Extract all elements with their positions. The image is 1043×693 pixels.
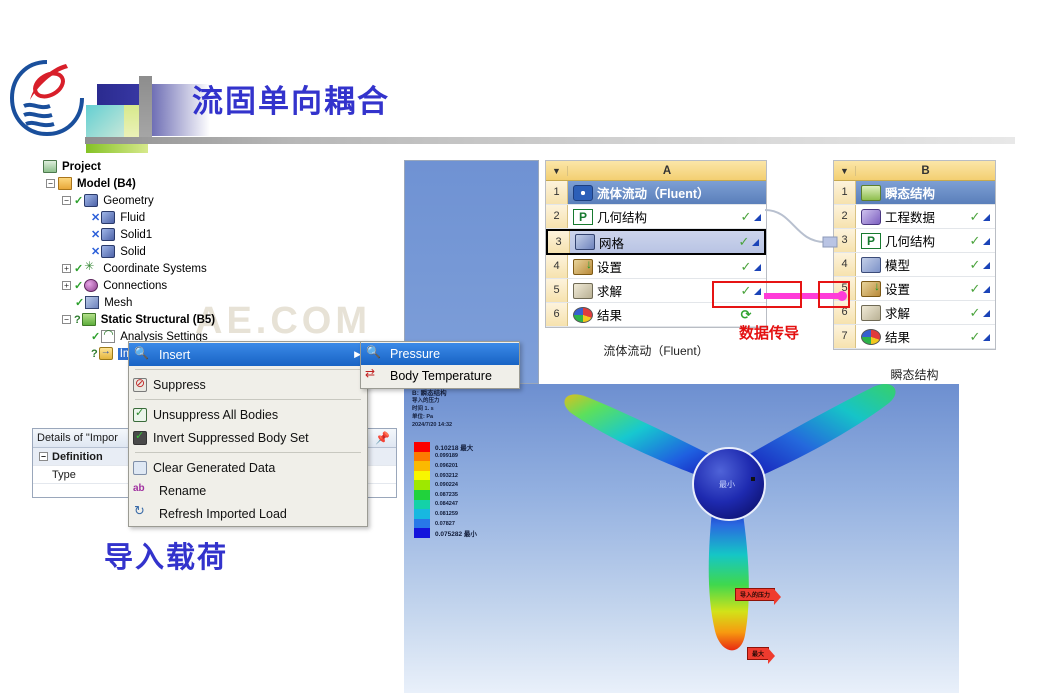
cell-update-triangle [983,258,995,272]
menu-separator [135,369,361,370]
cell-label: 几何结构 [885,231,967,250]
legend-entry: 0.081259 [414,509,477,519]
legend-value: 0.087235 [435,492,458,498]
collapse-icon[interactable]: − [39,452,48,461]
expand-icon[interactable]: + [62,264,71,273]
model-cell-icon [861,257,881,273]
cell-number: 5 [546,279,568,302]
tree-node-label: Solid [120,246,146,258]
mesh-cell-icon [575,234,595,250]
legend-value: 0.075282 最小 [435,528,477,538]
submenu-item-pressure[interactable]: Pressure [361,343,519,365]
viewport-info-line: 导入的压力 [412,398,440,406]
organization-logo [8,58,86,140]
legend-value: 0.07827 [435,521,455,527]
menu-separator [135,399,361,400]
system-a-header: ▼ A [546,161,766,181]
submenu-item-label: Pressure [390,347,440,361]
tree-node-mesh[interactable]: ✓Mesh [30,294,300,311]
menu-item-label: Insert [159,348,190,362]
menu-item-suppress[interactable]: Suppress [129,373,367,396]
cell-status-icon: ✓ [967,305,983,321]
results-cell-icon [861,329,881,345]
setup-cell-icon [573,259,593,275]
cell-status-icon: ✓ [967,233,983,249]
viewport-info-line: 时间 1. s [412,406,434,414]
check-icon: ✓ [91,330,100,343]
unsuppress-icon [133,408,147,422]
analysis-settings-icon [101,330,115,343]
page-title: 流固单向耦合 [192,76,390,121]
cell-number: 7 [834,325,856,348]
legend-value: 0.093212 [435,473,458,479]
expand-icon[interactable]: + [62,281,71,290]
tree-node-label: Mesh [104,297,132,309]
menu-item-rename[interactable]: Rename [129,479,367,502]
cell-number: 1 [546,181,568,204]
tree-node-label: Model (B4) [77,178,136,190]
tree-node-model-b4[interactable]: −Model (B4) [30,175,300,192]
menu-item-refresh-imported-load[interactable]: Refresh Imported Load [129,502,367,525]
legend-entry: 0.096201 [414,461,477,471]
legend-color-swatch [414,528,430,538]
check-icon: ✓ [74,194,83,207]
tree-node-fluid[interactable]: ✕Fluid [30,209,300,226]
imported-load-icon [99,347,113,360]
cell-status-icon: ✓ [967,257,983,273]
body-icon [101,245,115,258]
question-icon: ? [91,348,98,360]
cell-number: 3 [548,231,570,253]
check-icon: ✓ [75,296,84,309]
data-link-mesh-geometry [765,200,845,260]
cell-number: 4 [546,255,568,278]
menu-separator [135,452,361,453]
model-tree: Project−Model (B4)−✓Geometry✕Fluid✕Solid… [30,158,300,362]
legend-color-swatch [414,509,430,519]
submenu-item-body-temperature[interactable]: Body Temperature [361,365,519,387]
contour-legend: 0.10218 最大0.0991890.0962010.0932120.0902… [414,442,477,538]
geometry-icon [84,194,98,207]
tree-node-static-structural-b5[interactable]: −?Static Structural (B5) [30,311,300,328]
tree-node-solid1[interactable]: ✕Solid1 [30,226,300,243]
suppress-icon [133,378,147,392]
legend-color-swatch [414,442,430,452]
cell-label: 设置 [597,257,738,276]
tree-node-label: Project [62,161,101,173]
cell-label: 几何结构 [597,207,738,226]
cell-status-icon: ✓ [967,281,983,297]
legend-value: 0.090224 [435,482,458,488]
details-panel-title: Details of "Impor [37,432,118,444]
legend-color-swatch [414,500,430,510]
transient-structural-icon [861,185,881,201]
legend-entry: 0.07827 [414,519,477,529]
cell-label: 网格 [599,233,736,252]
body-icon [101,211,115,224]
workbench-cell-b7[interactable]: 7结果✓ [834,325,995,349]
cell-label: 流体流动（Fluent） [597,183,738,202]
static-structural-icon [82,313,96,326]
body-icon [101,228,115,241]
cell-update-triangle [983,282,995,296]
legend-color-swatch [414,519,430,529]
cell-update-triangle [983,306,995,320]
legend-color-swatch [414,490,430,500]
workbench-cell-b3[interactable]: 3P几何结构✓ [834,229,995,253]
fluent-icon [573,185,593,201]
system-b-caption: 瞬态结构 [833,366,996,383]
data-transfer-annotation: 数据传导 [739,322,799,343]
collapse-icon[interactable]: − [62,196,71,205]
collapse-icon[interactable]: − [62,315,71,324]
legend-color-swatch [414,452,430,462]
menu-item-label: Invert Suppressed Body Set [153,431,309,445]
cell-status-icon: ✓ [738,209,754,225]
menu-item-label: Suppress [153,378,206,392]
workbench-cell-a2[interactable]: 2P几何结构✓ [546,205,766,229]
pressure-icon [365,346,385,362]
highlight-box-b5 [818,281,850,308]
workbench-cell-b1[interactable]: 1瞬态结构 [834,181,995,205]
geometry-cell-icon: P [861,233,881,249]
menu-item-clear-generated-data[interactable]: Clear Generated Data [129,456,367,479]
legend-entry: 0.087235 [414,490,477,500]
callout-max: 最大 [747,647,769,660]
model-icon [58,177,72,190]
cell-label: 模型 [885,255,967,274]
menu-item-insert[interactable]: Insert▶ [129,343,367,366]
chevron-down-icon[interactable]: ▼ [546,166,568,176]
cell-label: 求解 [885,303,967,322]
viewport-info-line: 2024/7/20 14:32 [412,422,452,430]
tree-node-project[interactable]: Project [30,158,300,175]
invert-icon [133,431,147,445]
system-a-caption: 流体流动（Fluent） [545,342,767,359]
workbench-cell-b6[interactable]: 6求解✓ [834,301,995,325]
submenu-item-label: Body Temperature [390,369,492,383]
legend-value: 0.099189 [435,453,458,459]
cell-label: 结果 [885,327,967,346]
workbench-cell-a3[interactable]: 3网格✓ [546,229,766,255]
system-b-column-label: B [856,165,995,177]
engineering-data-icon [861,209,881,225]
x-icon: ✕ [91,228,100,241]
menu-item-label: Unsuppress All Bodies [153,408,278,422]
check-icon: ✓ [74,262,83,275]
cell-update-triangle [752,235,764,249]
tree-node-connections[interactable]: +✓Connections [30,277,300,294]
pin-icon[interactable]: 📌 [375,431,392,445]
legend-color-swatch [414,461,430,471]
results-viewport[interactable]: B: 瞬态结构导入的压力时间 1. s单位: Pa2024/7/20 14:32… [404,384,959,693]
propeller-model[interactable]: 最小 [529,384,929,679]
results-cell-icon [573,307,593,323]
x-icon: ✕ [91,245,100,258]
refresh-icon [133,506,153,522]
workbench-cell-b5[interactable]: 5设置✓ [834,277,995,301]
tree-node-label: Geometry [103,195,154,207]
legend-color-swatch [414,480,430,490]
workbench-cell-a1[interactable]: 1流体流动（Fluent） [546,181,766,205]
coordinate-systems-icon [84,262,98,275]
legend-entry: 0.10218 最大 [414,442,477,452]
cell-status-icon: ✓ [738,259,754,275]
details-field-label: Type [52,469,76,481]
cell-status-icon: ✓ [967,329,983,345]
header-bar-horizontal [85,137,1015,144]
workbench-cell-a4[interactable]: 4设置✓ [546,255,766,279]
cell-status-icon: ⟳ [738,307,754,323]
cell-number: 2 [546,205,568,228]
system-a-column-label: A [568,165,766,177]
cell-status-icon: ✓ [736,234,752,250]
header-bar-vertical [139,76,152,144]
menu-item-label: Rename [159,484,206,498]
viewport-info-line: 单位: Pa [412,414,433,422]
menu-item-unsuppress-all-bodies[interactable]: Unsuppress All Bodies [129,403,367,426]
insert-icon [133,347,153,363]
legend-value: 0.081259 [435,511,458,517]
solution-cell-icon [861,305,881,321]
system-b-header: ▼ B [834,161,995,181]
legend-entry: 0.093212 [414,471,477,481]
geometry-cell-icon: P [573,209,593,225]
chevron-down-icon[interactable]: ▼ [834,166,856,176]
question-icon: ? [74,314,81,326]
collapse-icon[interactable]: − [46,179,55,188]
cell-label: 设置 [885,279,967,298]
cell-label: 瞬态结构 [885,183,967,202]
menu-item-invert-suppressed-body-set[interactable]: Invert Suppressed Body Set [129,426,367,449]
menu-item-label: Clear Generated Data [153,461,275,475]
cell-update-triangle [754,260,766,274]
cell-update-triangle [983,210,995,224]
legend-entry: 0.090224 [414,480,477,490]
workbench-system-b: ▼ B 1瞬态结构2工程数据✓3P几何结构✓4模型✓5设置✓6求解✓7结果✓ [833,160,996,350]
slide-canvas: 流固单向耦合 AE.COM Project−Model (B4)−✓Geomet… [0,0,1043,693]
header-decor-green [86,143,148,153]
svg-text:最小: 最小 [719,480,735,489]
solution-cell-icon [573,283,593,299]
legend-value: 0.096201 [435,463,458,469]
highlight-box-a5 [712,281,802,308]
insert-submenu[interactable]: PressureBody Temperature [360,341,520,389]
cell-status-icon: ✓ [967,209,983,225]
legend-entry: 0.075282 最小 [414,528,477,538]
tree-node-coordinate-systems[interactable]: +✓Coordinate Systems [30,260,300,277]
connections-icon [84,279,98,292]
tree-node-label: Fluid [120,212,145,224]
legend-value: 0.10218 最大 [435,442,473,452]
workbench-cell-b2[interactable]: 2工程数据✓ [834,205,995,229]
mesh-icon [85,296,99,309]
check-icon: ✓ [74,279,83,292]
viewport-info-line: B: 瞬态结构 [412,390,447,398]
cell-number: 6 [546,303,568,326]
workbench-cell-b4[interactable]: 4模型✓ [834,253,995,277]
cell-label: 工程数据 [885,207,967,226]
tree-node-label: Static Structural (B5) [101,314,215,326]
project-icon [43,160,57,173]
x-icon: ✕ [91,211,100,224]
context-menu[interactable]: Insert▶SuppressUnsuppress All BodiesInve… [128,341,368,527]
tree-node-label: Solid1 [120,229,152,241]
legend-color-swatch [414,471,430,481]
legend-value: 0.084247 [435,501,458,507]
clear-data-icon [133,461,147,475]
details-section-label: Definition [52,451,103,463]
tree-node-label: Coordinate Systems [103,263,207,275]
body-temperature-icon [365,368,385,384]
legend-entry: 0.099189 [414,452,477,462]
legend-entry: 0.084247 [414,500,477,510]
tree-node-label: Connections [103,280,167,292]
setup-cell-icon [861,281,881,297]
cell-update-triangle [983,330,995,344]
cell-update-triangle [983,234,995,248]
menu-item-label: Refresh Imported Load [159,507,287,521]
tree-node-solid[interactable]: ✕Solid [30,243,300,260]
section-title: 导入载荷 [104,534,228,576]
rename-icon [133,483,153,499]
tree-node-geometry[interactable]: −✓Geometry [30,192,300,209]
callout-imported-pressure: 导入的压力 [735,588,775,601]
